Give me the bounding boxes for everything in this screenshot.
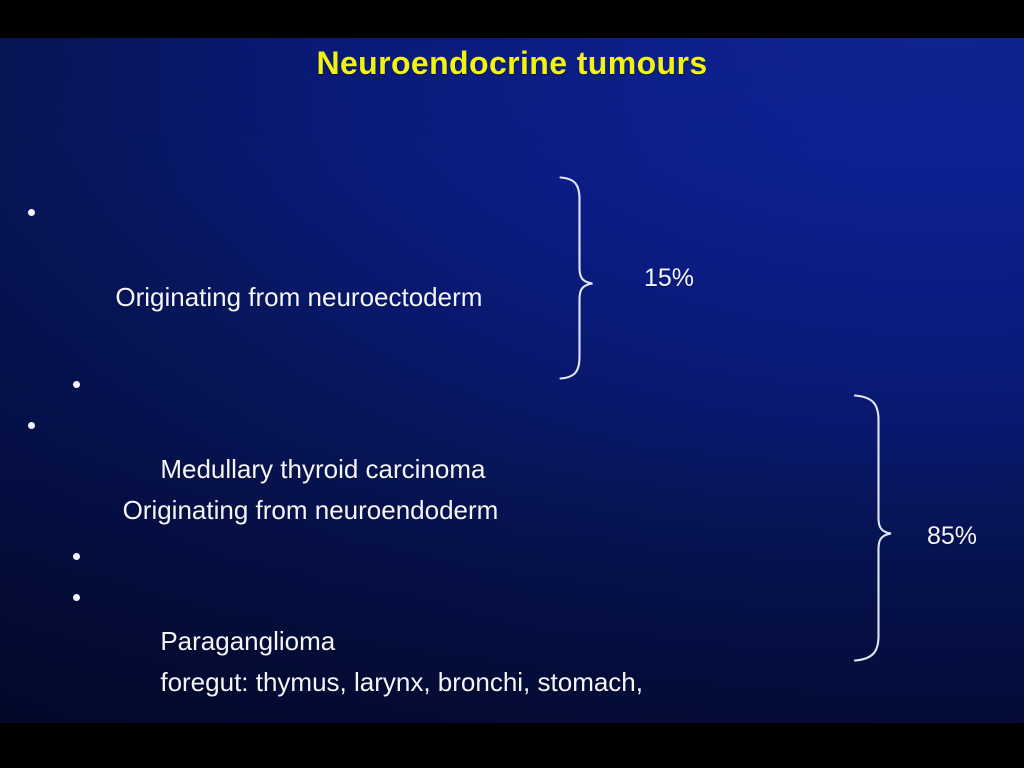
percentage-label-85: 85% [927, 521, 977, 551]
curly-brace-15 [556, 172, 600, 384]
curly-brace-85 [850, 390, 894, 670]
list-item-label: Originating from neuroendoderm [115, 495, 498, 525]
list-item: Originating from neuroectoderm [0, 190, 600, 362]
list-item-label: foregut: thymus, larynx, bronchi, stomac… [160, 667, 643, 697]
bullet-dot-icon [28, 422, 35, 429]
letterbox-bar-top [0, 0, 1024, 38]
letterbox-bar-bottom [0, 723, 1024, 768]
list-item: foregut: thymus, larynx, bronchi, stomac… [0, 575, 830, 747]
bullet-dot-icon [28, 209, 35, 216]
bullet-dot-icon [73, 594, 80, 601]
list-item-label: Originating from neuroectoderm [115, 282, 482, 312]
bullet-dot-icon [73, 381, 80, 388]
presentation-slide: Neuroendocrine tumours Originating from … [0, 0, 1024, 768]
list-item: Originating from neuroendoderm [0, 403, 830, 575]
page-title: Neuroendocrine tumours [0, 45, 1024, 82]
percentage-label-15: 15% [644, 263, 694, 293]
bullet-group-neuroendoderm: Originating from neuroendoderm foregut: … [0, 403, 830, 768]
